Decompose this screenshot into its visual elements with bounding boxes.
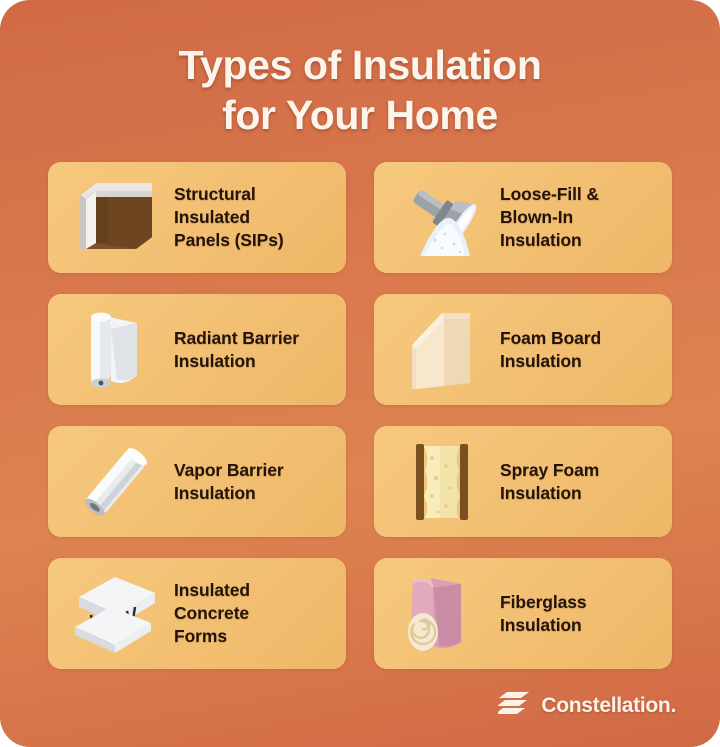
constellation-stripes-logo-icon (498, 690, 530, 721)
card-structural-insulated-panels[interactable]: Structural Insulated Panels (SIPs) (48, 162, 346, 273)
card-foam-board[interactable]: Foam Board Insulation (374, 294, 672, 405)
card-label: Radiant Barrier Insulation (170, 327, 336, 373)
title-line-2: for Your Home (0, 90, 720, 140)
card-label: Vapor Barrier Insulation (170, 459, 336, 505)
card-radiant-barrier[interactable]: Radiant Barrier Insulation (48, 294, 346, 405)
card-label: Fiberglass Insulation (496, 591, 662, 637)
foil-roll-icon (62, 304, 170, 396)
card-label: Spray Foam Insulation (496, 459, 662, 505)
structural-insulated-panel-icon (62, 172, 170, 264)
infographic-poster: Types of Insulation for Your Home Struct… (0, 0, 720, 747)
page-title: Types of Insulation for Your Home (0, 40, 720, 141)
vapor-barrier-roll-icon (62, 436, 170, 528)
insulated-concrete-form-icon (62, 568, 170, 660)
card-fiberglass[interactable]: Fiberglass Insulation (374, 558, 672, 669)
card-vapor-barrier[interactable]: Vapor Barrier Insulation (48, 426, 346, 537)
card-spray-foam[interactable]: Spray Foam Insulation (374, 426, 672, 537)
card-insulated-concrete-forms[interactable]: Insulated Concrete Forms (48, 558, 346, 669)
spray-foam-wall-cavity-icon (388, 436, 496, 528)
card-label: Insulated Concrete Forms (170, 579, 336, 647)
fiberglass-batt-roll-icon (388, 568, 496, 660)
brand-name: Constellation. (541, 694, 676, 718)
card-loose-fill-blown-in[interactable]: Loose-Fill & Blown-In Insulation (374, 162, 672, 273)
title-line-1: Types of Insulation (0, 40, 720, 90)
card-label: Foam Board Insulation (496, 327, 662, 373)
insulation-types-grid: Structural Insulated Panels (SIPs) (48, 162, 672, 669)
card-label: Loose-Fill & Blown-In Insulation (496, 183, 662, 251)
brand-footer[interactable]: Constellation. (498, 690, 676, 721)
blower-nozzle-loose-fill-icon (388, 172, 496, 264)
card-label: Structural Insulated Panels (SIPs) (170, 183, 336, 251)
foam-board-icon (388, 304, 496, 396)
